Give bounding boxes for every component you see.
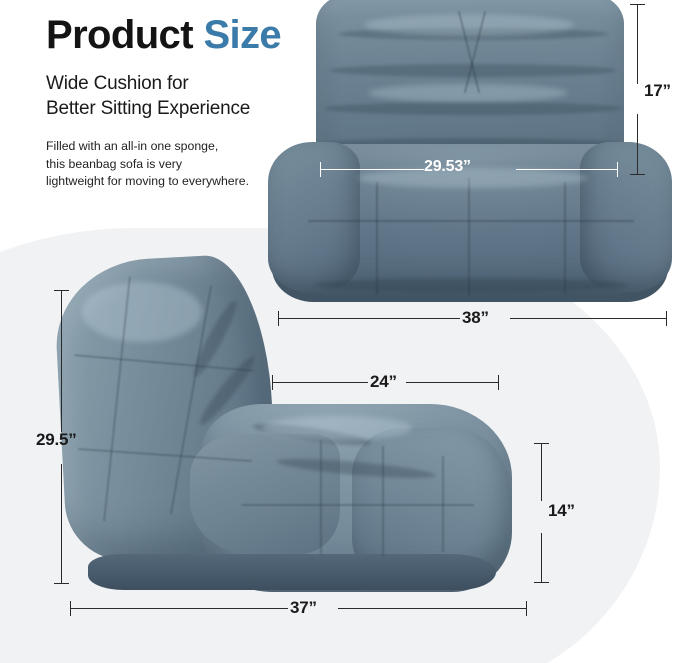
dimension-overall-width-front: 38” [278,308,668,330]
dimension-label-overall-width-front: 38” [462,308,489,328]
subtitle-line-1: Wide Cushion for [46,71,281,96]
fabric-seam [320,440,322,554]
sofa-base-shadow [88,554,496,590]
dimension-seat-height: 17” [624,4,679,176]
subtitle: Wide Cushion for Better Sitting Experien… [46,71,281,121]
body-line-1: Filled with an all-in one sponge, [46,138,281,155]
sofa-seat-junction [190,434,340,554]
body-line-2: this beanbag sofa is very [46,156,281,173]
fabric-seam [564,182,566,294]
dimension-overall-depth: 37” [70,598,528,620]
fabric-seam [382,446,384,556]
page-title-main: Product [46,13,203,57]
dimension-seat-depth: 24” [272,372,500,394]
product-size-infographic: 29.53” 17” 38” 24” 29.5” 14” [0,0,679,663]
dimension-label-seat-depth: 24” [370,372,397,392]
heading-block: Product Size Wide Cushion for Better Sit… [46,14,281,191]
dimension-label-seat-height: 17” [644,81,671,101]
dimension-label-seat-width: 29.53” [424,158,471,176]
fabric-highlight [368,84,568,102]
fabric-crease [324,102,622,115]
fabric-highlight [262,416,412,440]
subtitle-line-2: Better Sitting Experience [46,96,281,121]
dimension-label-overall-height: 29.5” [36,430,77,450]
fabric-seam [242,504,474,506]
body-description: Filled with an all-in one sponge, this b… [46,138,281,190]
dimension-label-seat-rise: 14” [548,501,575,521]
dimension-seat-rise: 14” [528,443,584,585]
fabric-highlight [82,282,202,342]
dimension-seat-width: 29.53” [320,158,618,180]
fabric-highlight [364,14,574,36]
dimension-overall-height: 29.5” [38,290,98,586]
body-line-3: lightweight for moving to everywhere. [46,173,281,190]
dimension-label-overall-depth: 37” [290,598,317,618]
page-title-accent: Size [203,13,281,57]
fabric-seam [308,220,634,222]
page-title: Product Size [46,14,281,57]
